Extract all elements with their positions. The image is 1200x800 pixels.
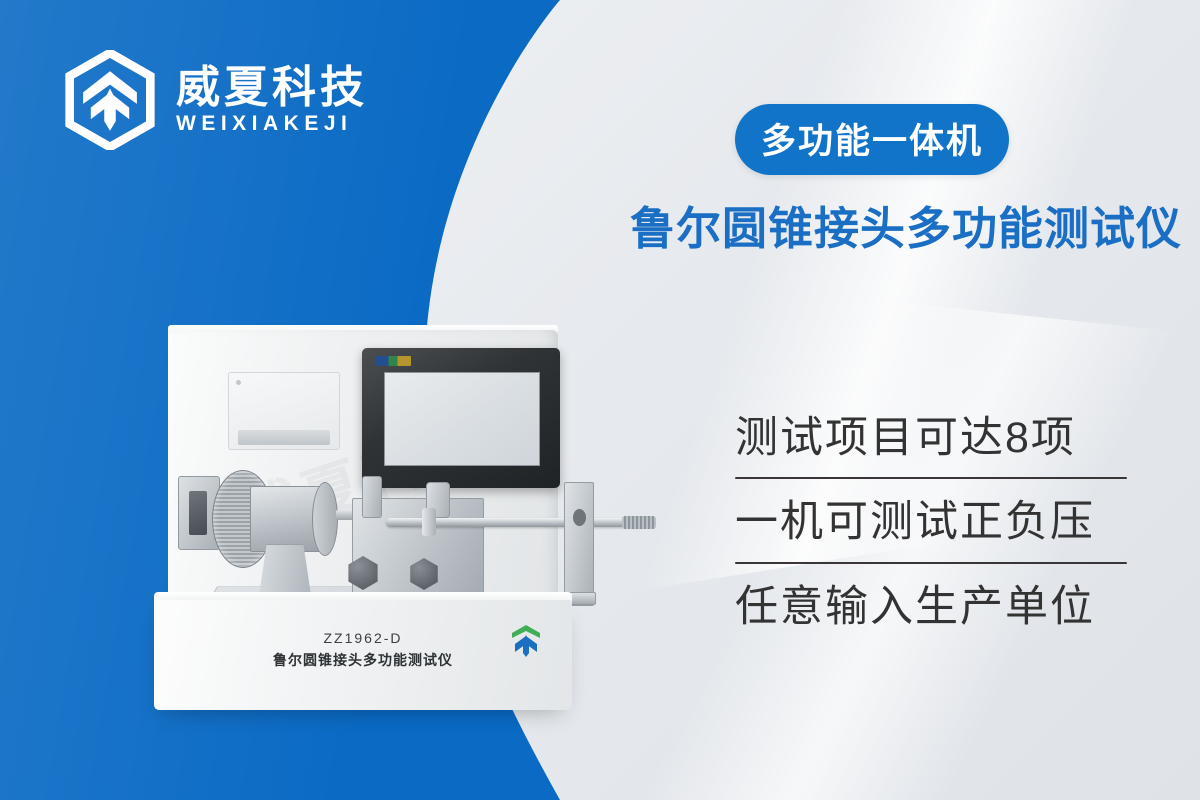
hero-copy: 多功能一体机 鲁尔圆锥接头多功能测试仪: [735, 104, 1135, 175]
mechanism-l-bracket: [564, 482, 594, 606]
feature-label: 测试项目可达8项: [735, 412, 1127, 471]
list-item: 任意输入生产单位: [735, 581, 1127, 640]
brand-name-cn: 威夏科技: [176, 65, 368, 111]
banner-stage: 威夏科技 WEIXIAKEJI 多功能一体机 鲁尔圆锥接头多功能测试仪 测试项目…: [0, 0, 1200, 800]
mechanism-threaded-rod-end: [622, 516, 656, 529]
mechanism-drum-face: [312, 482, 338, 556]
brand-name-en: WEIXIAKEJI: [176, 113, 368, 135]
product-photo: 威夏科技 ZZ1962-D 鲁尔圆锥接头多功能测试仪: [150, 330, 620, 730]
machine-base: ZZ1962-D 鲁尔圆锥接头多功能测试仪: [154, 600, 572, 710]
feature-list: 测试项目可达8项 一机可测试正负压 任意输入生产单位: [735, 412, 1127, 640]
feature-divider: [735, 562, 1127, 564]
brand-lockup: 威夏科技 WEIXIAKEJI: [62, 50, 368, 150]
list-item: 一机可测试正负压: [735, 496, 1127, 563]
weixia-small-logo-icon: [508, 622, 544, 662]
brand-wordmark: 威夏科技 WEIXIAKEJI: [176, 65, 368, 135]
mechanism-fixture-post-left: [362, 476, 382, 518]
machine-panel-handle: [238, 430, 330, 445]
list-item: 测试项目可达8项: [735, 412, 1127, 479]
hmi-screen-surface: [384, 372, 540, 466]
hmi-touchscreen-icon: [362, 348, 560, 488]
hmi-brand-sticker: [376, 356, 411, 366]
feature-divider: [735, 477, 1127, 479]
hero-badge: 多功能一体机: [735, 104, 1009, 175]
hexagon-arrow-logo-icon: [62, 50, 158, 150]
page-title: 鲁尔圆锥接头多功能测试仪: [630, 203, 1150, 255]
feature-label: 任意输入生产单位: [735, 581, 1127, 640]
feature-label: 一机可测试正负压: [735, 496, 1127, 555]
mechanism-rod-collar: [422, 508, 436, 536]
